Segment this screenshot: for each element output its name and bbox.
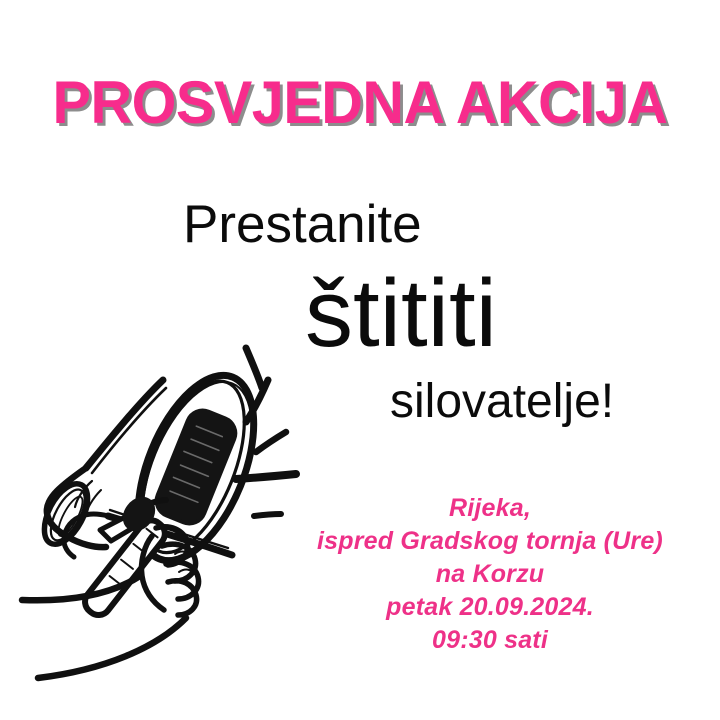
- details-line-street: na Korzu: [280, 558, 700, 591]
- event-details: Rijeka, ispred Gradskog tornja (Ure) na …: [280, 492, 700, 657]
- details-line-venue: ispred Gradskog tornja (Ure): [280, 525, 700, 558]
- slogan-line-1: Prestanite: [183, 196, 422, 254]
- slogan-line-3: silovatelje!: [390, 375, 614, 429]
- slogan-line-2: štititi: [305, 262, 497, 366]
- details-line-time: 09:30 sati: [280, 624, 700, 657]
- megaphone-illustration-svg: [0, 318, 320, 718]
- details-line-date: petak 20.09.2024.: [280, 591, 700, 624]
- protest-poster: PROSVJEDNA AKCIJA: [0, 0, 720, 720]
- details-line-city: Rijeka,: [280, 492, 700, 525]
- megaphone-icon: [0, 318, 320, 718]
- page-title: PROSVJEDNA AKCIJA: [14, 72, 705, 134]
